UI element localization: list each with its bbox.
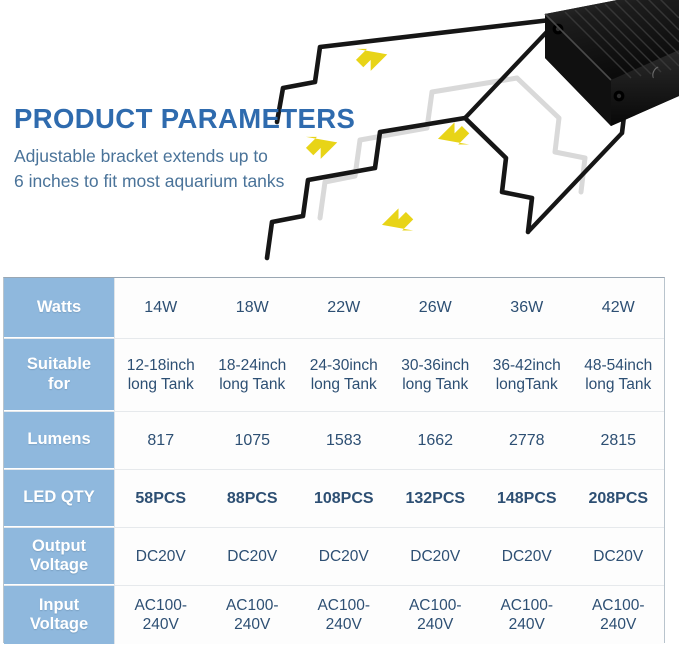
table-row-led_qty: LED QTY58PCS88PCS108PCS132PCS148PCS208PC…: [4, 470, 664, 528]
cell-output_voltage-3: DC20V: [298, 528, 390, 585]
cell-suitable_for-2: 18-24inchlong Tank: [207, 339, 299, 411]
cell-watts-1: 14W: [115, 278, 207, 338]
cell-watts-3: 22W: [298, 278, 390, 338]
arrow-down-left-icon: [356, 49, 387, 71]
row-label-watts: Watts: [4, 278, 114, 338]
cell-led_qty-1: 58PCS: [115, 470, 207, 527]
led-fixture-body: (: [545, 0, 679, 126]
page-title: PRODUCT PARAMETERS: [14, 104, 364, 134]
cell-input_voltage-4: AC100-240V: [390, 586, 482, 644]
cell-led_qty-4: 132PCS: [390, 470, 482, 527]
cell-led_qty-3: 108PCS: [298, 470, 390, 527]
row-values-input_voltage: AC100-240VAC100-240VAC100-240VAC100-240V…: [114, 586, 664, 644]
cell-suitable_for-5: 36-42inchlongTank: [481, 339, 573, 411]
cell-lumens-6: 2815: [573, 412, 665, 469]
cell-led_qty-2: 88PCS: [207, 470, 299, 527]
cell-input_voltage-5: AC100-240V: [481, 586, 573, 644]
cell-suitable_for-3: 24-30inchlong Tank: [298, 339, 390, 411]
page-subtitle: Adjustable bracket extends up to6 inches…: [14, 144, 364, 194]
table-row-suitable_for: Suitablefor12-18inchlong Tank18-24inchlo…: [4, 339, 664, 412]
table-row-output_voltage: OutputVoltageDC20VDC20VDC20VDC20VDC20VDC…: [4, 528, 664, 586]
table-row-lumens: Lumens81710751583166227782815: [4, 412, 664, 470]
cell-lumens-4: 1662: [390, 412, 482, 469]
cell-output_voltage-5: DC20V: [481, 528, 573, 585]
cell-lumens-2: 1075: [207, 412, 299, 469]
row-values-lumens: 81710751583166227782815: [114, 412, 664, 469]
cell-lumens-1: 817: [115, 412, 207, 469]
row-label-lumens: Lumens: [4, 412, 114, 469]
cell-watts-4: 26W: [390, 278, 482, 338]
row-label-input_voltage: InputVoltage: [4, 586, 114, 644]
cell-input_voltage-3: AC100-240V: [298, 586, 390, 644]
row-values-watts: 14W18W22W26W36W42W: [114, 278, 664, 338]
cell-lumens-3: 1583: [298, 412, 390, 469]
cell-led_qty-6: 208PCS: [573, 470, 665, 527]
cell-input_voltage-6: AC100-240V: [573, 586, 665, 644]
row-values-output_voltage: DC20VDC20VDC20VDC20VDC20VDC20V: [114, 528, 664, 585]
arrow-up-right-icon: [438, 122, 469, 144]
row-label-led_qty: LED QTY: [4, 470, 114, 527]
row-values-suitable_for: 12-18inchlong Tank18-24inchlong Tank24-3…: [114, 339, 664, 411]
heading-block: PRODUCT PARAMETERS Adjustable bracket ex…: [14, 104, 364, 194]
cell-lumens-5: 2778: [481, 412, 573, 469]
cell-suitable_for-6: 48-54inchlong Tank: [573, 339, 665, 411]
row-values-led_qty: 58PCS88PCS108PCS132PCS148PCS208PCS: [114, 470, 664, 527]
cell-watts-6: 42W: [573, 278, 665, 338]
cell-input_voltage-2: AC100-240V: [207, 586, 299, 644]
table-row-watts: Watts14W18W22W26W36W42W: [4, 278, 664, 339]
row-label-output_voltage: OutputVoltage: [4, 528, 114, 585]
cell-output_voltage-1: DC20V: [115, 528, 207, 585]
cell-suitable_for-1: 12-18inchlong Tank: [115, 339, 207, 411]
cell-led_qty-5: 148PCS: [481, 470, 573, 527]
cell-output_voltage-2: DC20V: [207, 528, 299, 585]
cell-watts-2: 18W: [207, 278, 299, 338]
cell-output_voltage-6: DC20V: [573, 528, 665, 585]
table-row-input_voltage: InputVoltageAC100-240VAC100-240VAC100-24…: [4, 586, 664, 644]
cell-input_voltage-1: AC100-240V: [115, 586, 207, 644]
arrow-up-right-icon: [382, 208, 413, 230]
cell-watts-5: 36W: [481, 278, 573, 338]
cell-suitable_for-4: 30-36inchlong Tank: [390, 339, 482, 411]
row-label-suitable_for: Suitablefor: [4, 339, 114, 411]
cell-output_voltage-4: DC20V: [390, 528, 482, 585]
product-parameters-table: Watts14W18W22W26W36W42WSuitablefor12-18i…: [3, 277, 665, 643]
